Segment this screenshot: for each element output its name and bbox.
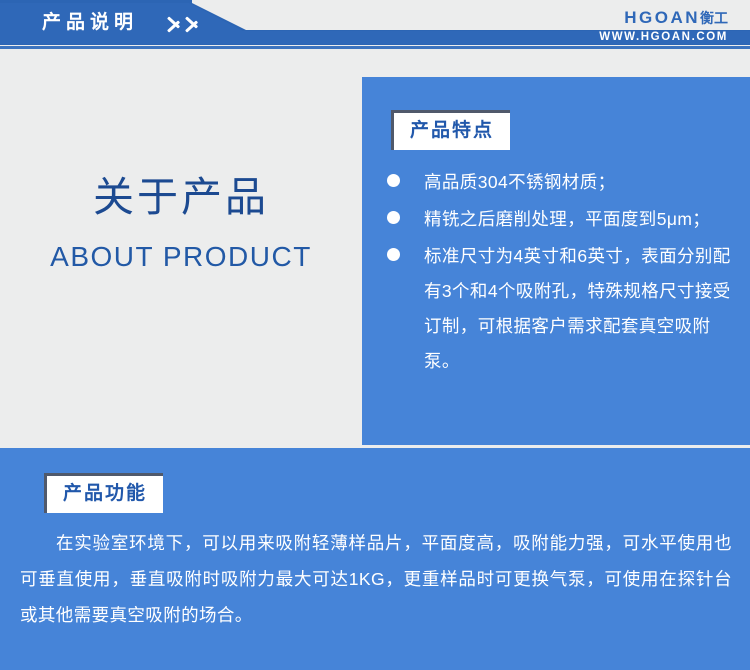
header-title: 产品说明 bbox=[42, 9, 138, 36]
about-product-panel: 关于产品 ABOUT PRODUCT bbox=[0, 52, 362, 445]
filled-circle-bullet-icon bbox=[387, 211, 400, 224]
function-body-text: 在实验室环境下，可以用来吸附轻薄样品片，平面度高，吸附能力强，可水平使用也可垂直… bbox=[20, 525, 732, 633]
list-item: 精铣之后磨削处理，平面度到5μm； bbox=[382, 202, 736, 237]
feature-text: 标准尺寸为4英寸和6英寸，表面分别配有3个和4个吸附孔，特殊规格尺寸接受订制，可… bbox=[424, 239, 736, 379]
features-list: 高品质304不锈钢材质； 精铣之后磨削处理，平面度到5μm； 标准尺寸为4英寸和… bbox=[382, 165, 736, 381]
header-underline bbox=[0, 46, 750, 49]
list-item: 高品质304不锈钢材质； bbox=[382, 165, 736, 200]
product-function-section: 产品功能 在实验室环境下，可以用来吸附轻薄样品片，平面度高，吸附能力强，可水平使… bbox=[0, 448, 750, 670]
function-title-box: 产品功能 bbox=[44, 473, 163, 513]
filled-circle-bullet-icon bbox=[387, 174, 400, 187]
about-title-en: ABOUT PRODUCT bbox=[0, 240, 362, 274]
feature-text: 高品质304不锈钢材质； bbox=[424, 165, 736, 200]
chevron-right-icon-2 bbox=[184, 12, 204, 34]
feature-text: 精铣之后磨削处理，平面度到5μm； bbox=[424, 202, 736, 237]
product-features-panel: 产品特点 高品质304不锈钢材质； 精铣之后磨削处理，平面度到5μm； 标准尺寸… bbox=[362, 77, 750, 445]
features-title-box: 产品特点 bbox=[391, 110, 510, 150]
page-header: 产品说明 HGOAN衡工 WWW.HGOAN.COM bbox=[0, 0, 750, 52]
features-title-label: 产品特点 bbox=[410, 120, 494, 141]
list-item: 标准尺寸为4英寸和6英寸，表面分别配有3个和4个吸附孔，特殊规格尺寸接受订制，可… bbox=[382, 239, 736, 379]
logo-wordmark-cn: 衡工 bbox=[700, 10, 728, 26]
about-title-cn: 关于产品 bbox=[0, 172, 362, 222]
logo-wordmark: HGOAN衡工 bbox=[599, 8, 728, 28]
logo-website-url: WWW.HGOAN.COM bbox=[599, 30, 728, 45]
brand-logo: HGOAN衡工 WWW.HGOAN.COM bbox=[599, 8, 728, 45]
filled-circle-bullet-icon bbox=[387, 248, 400, 261]
logo-wordmark-en: HGOAN bbox=[624, 8, 700, 27]
function-title-label: 产品功能 bbox=[63, 483, 147, 504]
chevron-right-icon-1 bbox=[166, 12, 186, 34]
double-chevron-right-icon bbox=[166, 10, 226, 36]
